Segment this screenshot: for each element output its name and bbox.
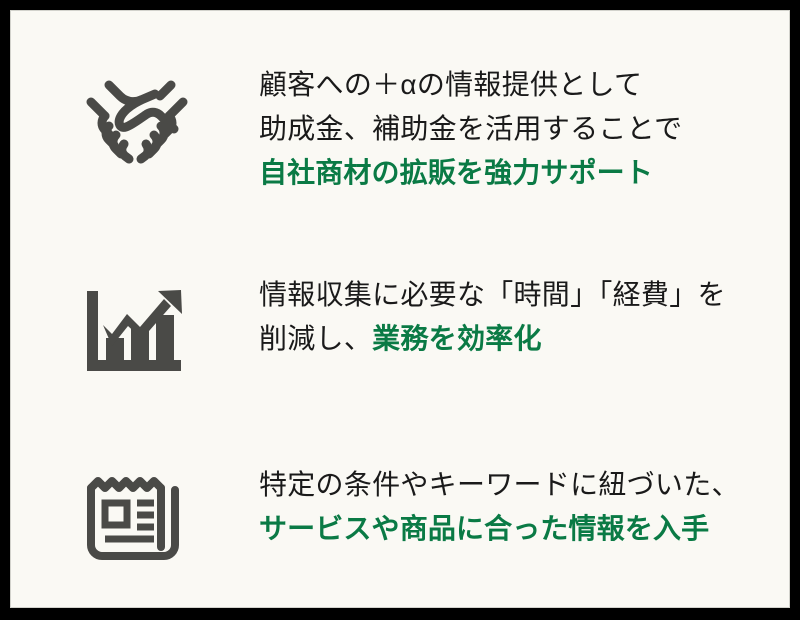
outer-frame: 顧客への＋αの情報提供として 助成金、補助金を活用することで 自社商材の拡販を強…	[0, 0, 800, 620]
feature-text-line-accent: サービスや商品に合った情報を入手	[259, 507, 777, 551]
feature-icon-cell	[11, 273, 259, 383]
content-canvas: 顧客への＋αの情報提供として 助成金、補助金を活用することで 自社商材の拡販を強…	[10, 10, 790, 608]
bar-chart-growth-icon	[85, 287, 185, 383]
feature-text-plain: 削減し、	[259, 323, 372, 354]
feature-text-line-mixed: 削減し、業務を効率化	[259, 317, 777, 361]
feature-item: 特定の条件やキーワードに紐づいた、 サービスや商品に合った情報を入手	[11, 463, 789, 565]
newspaper-icon	[84, 475, 186, 565]
feature-icon-cell	[11, 463, 259, 565]
feature-text-line: 助成金、補助金を活用することで	[259, 107, 777, 151]
feature-item: 情報収集に必要な「時間」「経費」を 削減し、業務を効率化	[11, 273, 789, 383]
feature-text-line: 特定の条件やキーワードに紐づいた、	[259, 463, 777, 507]
feature-text-cell: 特定の条件やキーワードに紐づいた、 サービスや商品に合った情報を入手	[259, 463, 789, 551]
feature-list: 顧客への＋αの情報提供として 助成金、補助金を活用することで 自社商材の拡販を強…	[11, 11, 789, 607]
feature-text-line: 顧客への＋αの情報提供として	[259, 63, 777, 107]
feature-icon-cell	[11, 63, 259, 167]
feature-text-line-accent: 自社商材の拡販を強力サポート	[259, 151, 777, 195]
feature-text-cell: 顧客への＋αの情報提供として 助成金、補助金を活用することで 自社商材の拡販を強…	[259, 63, 789, 195]
feature-text-line: 情報収集に必要な「時間」「経費」を	[259, 273, 777, 317]
feature-text-accent-run: 業務を効率化	[372, 323, 542, 354]
feature-text-cell: 情報収集に必要な「時間」「経費」を 削減し、業務を効率化	[259, 273, 789, 361]
handshake-icon	[79, 71, 191, 167]
feature-item: 顧客への＋αの情報提供として 助成金、補助金を活用することで 自社商材の拡販を強…	[11, 63, 789, 195]
